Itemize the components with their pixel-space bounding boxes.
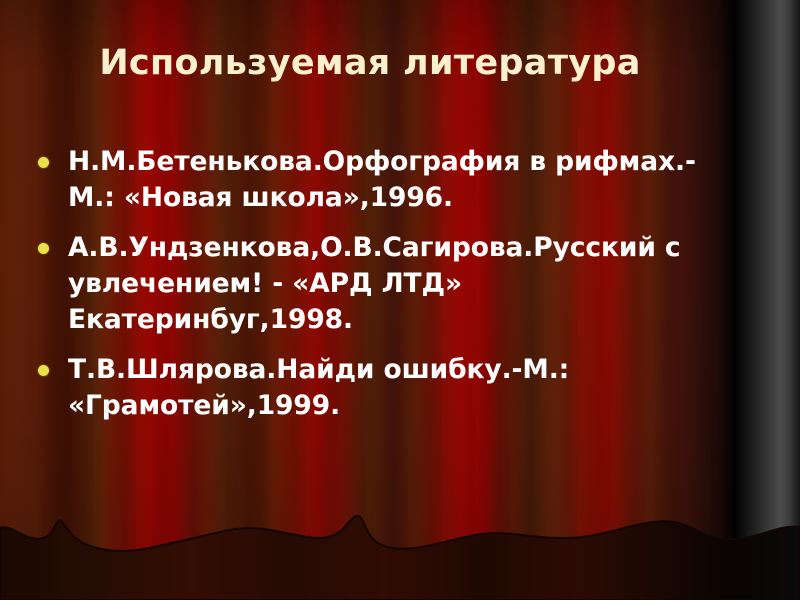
presentation-slide: Используемая литература Н.М.Бетенькова.О…: [0, 0, 800, 600]
curtain-hem: [0, 510, 800, 600]
list-item: А.В.Ундзенкова,О.В.Сагирова.Русский с ув…: [26, 230, 726, 338]
bullet-dot-icon: [38, 157, 49, 168]
reference-list: Н.М.Бетенькова.Орфография в рифмах.-М.: …: [26, 144, 726, 438]
reference-text: Т.В.Шлярова.Найди ошибку.-М.: «Грамотей»…: [68, 352, 726, 424]
list-item: Н.М.Бетенькова.Орфография в рифмах.-М.: …: [26, 144, 726, 216]
bullet-dot-icon: [38, 243, 49, 254]
list-item: Т.В.Шлярова.Найди ошибку.-М.: «Грамотей»…: [26, 352, 726, 424]
reference-text: А.В.Ундзенкова,О.В.Сагирова.Русский с ув…: [68, 230, 726, 338]
bullet-dot-icon: [38, 365, 49, 376]
reference-text: Н.М.Бетенькова.Орфография в рифмах.-М.: …: [68, 144, 726, 216]
page-title: Используемая литература: [0, 44, 740, 83]
